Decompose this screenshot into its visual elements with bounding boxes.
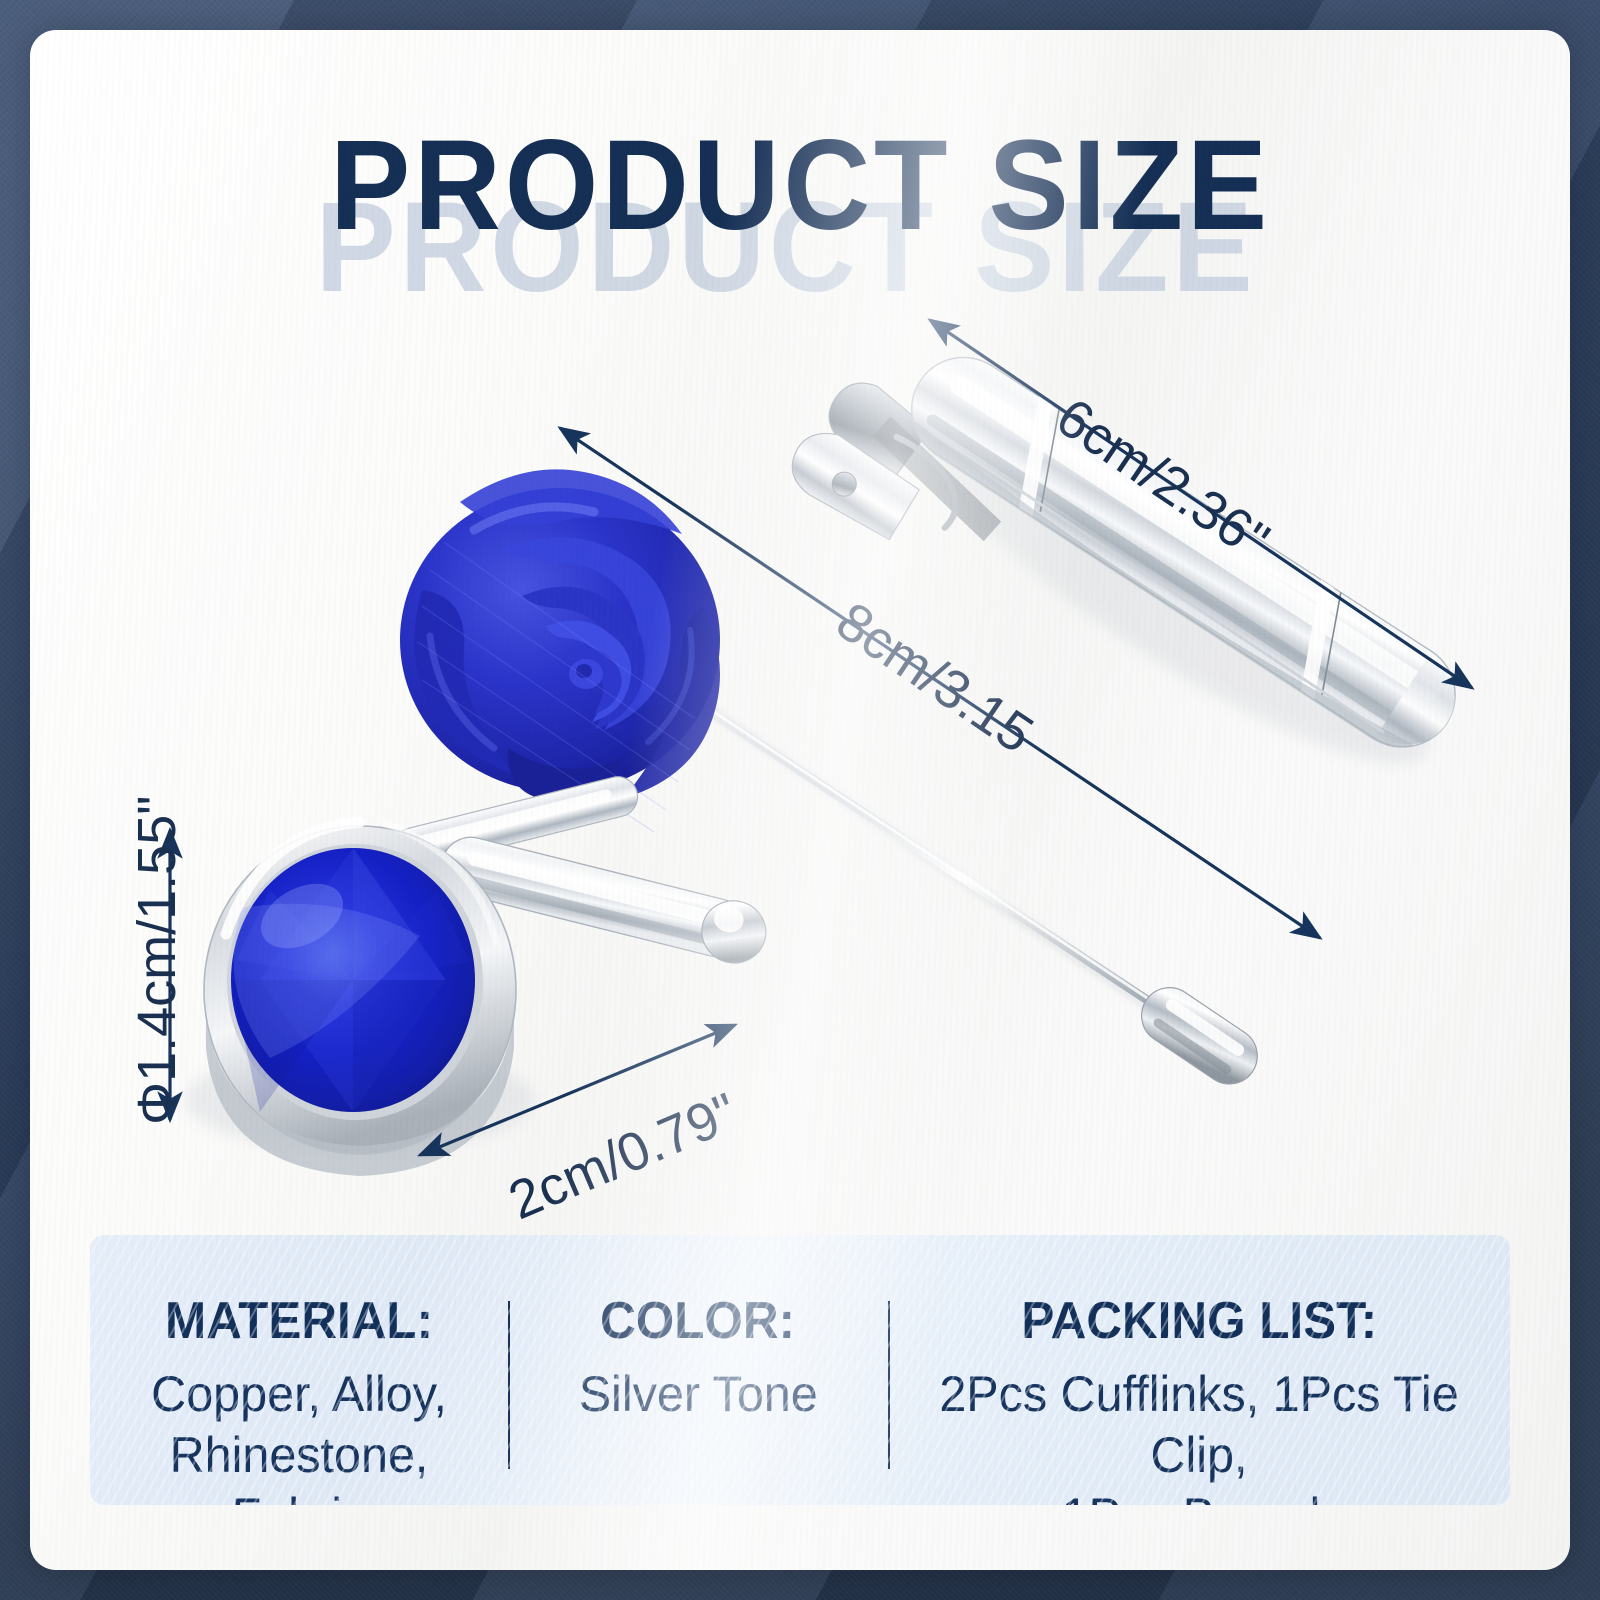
packing-label: PACKING LIST: — [1021, 1295, 1377, 1348]
page-title: PRODUCT SIZE PRODUCT SIZE — [30, 122, 1570, 250]
tie-clip-product — [780, 338, 1475, 813]
material-value: Copper, Alloy,Rhinestone, Fabric — [96, 1364, 501, 1505]
infographic-stage: PRODUCT SIZE PRODUCT SIZE — [0, 0, 1600, 1600]
dimension-label-cufflink-width: 2cm/0.79" — [500, 1081, 746, 1232]
rose-flower — [400, 469, 720, 832]
dimension-label-brooch: 8cm/3.15 — [825, 590, 1044, 766]
info-column-material: MATERIAL: Copper, Alloy,Rhinestone, Fabr… — [90, 1235, 508, 1505]
info-column-color: COLOR: Silver Tone — [508, 1235, 888, 1425]
info-column-packing: PACKING LIST: 2Pcs Cufflinks, 1Pcs Tie C… — [888, 1235, 1510, 1505]
cufflink-head — [204, 822, 516, 1176]
info-divider-2 — [888, 1301, 890, 1469]
color-label: COLOR: — [601, 1295, 796, 1348]
color-value: Silver Tone — [578, 1364, 817, 1425]
brooch-product — [400, 469, 1268, 1094]
dimension-label-tieclip: 6cm/2.36" — [1045, 386, 1280, 572]
info-divider-1 — [508, 1301, 510, 1469]
packing-value: 2Pcs Cufflinks, 1Pcs Tie Clip,1Pcs Brooc… — [897, 1364, 1500, 1505]
product-card: PRODUCT SIZE PRODUCT SIZE — [30, 30, 1570, 1570]
page-title-text: PRODUCT SIZE — [330, 122, 1271, 250]
info-panel: MATERIAL: Copper, Alloy,Rhinestone, Fabr… — [90, 1235, 1510, 1505]
dimension-label-cufflink-diameter: Φ1.4cm/1.55" — [126, 796, 188, 1125]
material-label: MATERIAL: — [165, 1295, 433, 1348]
